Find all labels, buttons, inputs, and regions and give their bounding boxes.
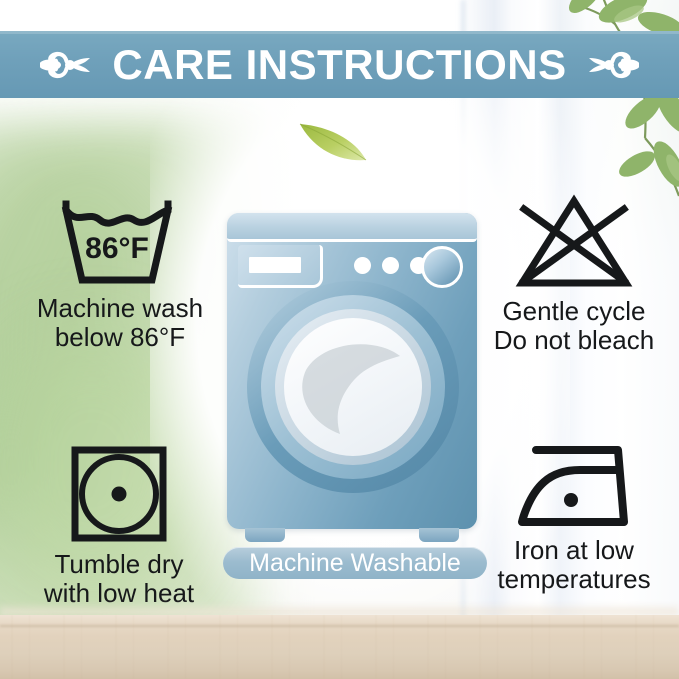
washer-foot-right [419, 528, 459, 542]
table-seam-line [0, 625, 679, 627]
triangle-crossed-out-icon [514, 193, 634, 291]
washer-drum-swirl [284, 318, 422, 456]
washer-foot-left [245, 528, 285, 542]
care-instructions-infographic: CARE INSTRUCTIONS 86°F [0, 0, 679, 679]
page-title: CARE INSTRUCTIONS [112, 44, 566, 86]
washer-door-glass [284, 318, 422, 456]
care-item-caption: Machine wash below 86°F [37, 294, 203, 352]
floating-leaf-icon [296, 118, 370, 164]
washer-door-ring-inner [275, 309, 431, 465]
care-item-caption: Tumble dry with low heat [44, 550, 194, 608]
washer-led [382, 257, 399, 274]
machine-washable-badge: Machine Washable [223, 547, 487, 579]
care-item-machine-wash: 86°F Machine wash below 86°F [14, 196, 226, 352]
washer-indicator-lights [354, 257, 427, 274]
tumble-dry-low-icon [69, 444, 169, 544]
fleur-de-lis-icon [40, 43, 96, 87]
washer-drawer-slot [249, 257, 301, 273]
care-item-do-not-bleach: Gentle cycle Do not bleach [472, 193, 676, 355]
care-item-caption: Gentle cycle Do not bleach [494, 297, 654, 355]
table-edge-highlight [0, 603, 679, 615]
badge-label: Machine Washable [249, 551, 461, 576]
fleur-de-lis-icon-right [583, 43, 639, 87]
care-item-caption: Iron at low temperatures [497, 536, 650, 594]
wash-temperature-label: 86°F [85, 232, 149, 265]
washing-machine-illustration [227, 213, 477, 529]
washer-top-panel [227, 213, 477, 242]
iron-low-heat-icon [514, 444, 634, 530]
care-item-iron-low: Iron at low temperatures [472, 444, 676, 594]
washer-program-knob [421, 246, 463, 288]
wash-basin-icon: 86°F [60, 196, 180, 288]
care-item-tumble-dry: Tumble dry with low heat [12, 444, 226, 608]
washer-door [247, 281, 459, 493]
washer-detergent-drawer [238, 245, 323, 288]
washer-led [354, 257, 371, 274]
banner: CARE INSTRUCTIONS [0, 31, 679, 98]
washer-door-ring-outer [261, 295, 445, 479]
